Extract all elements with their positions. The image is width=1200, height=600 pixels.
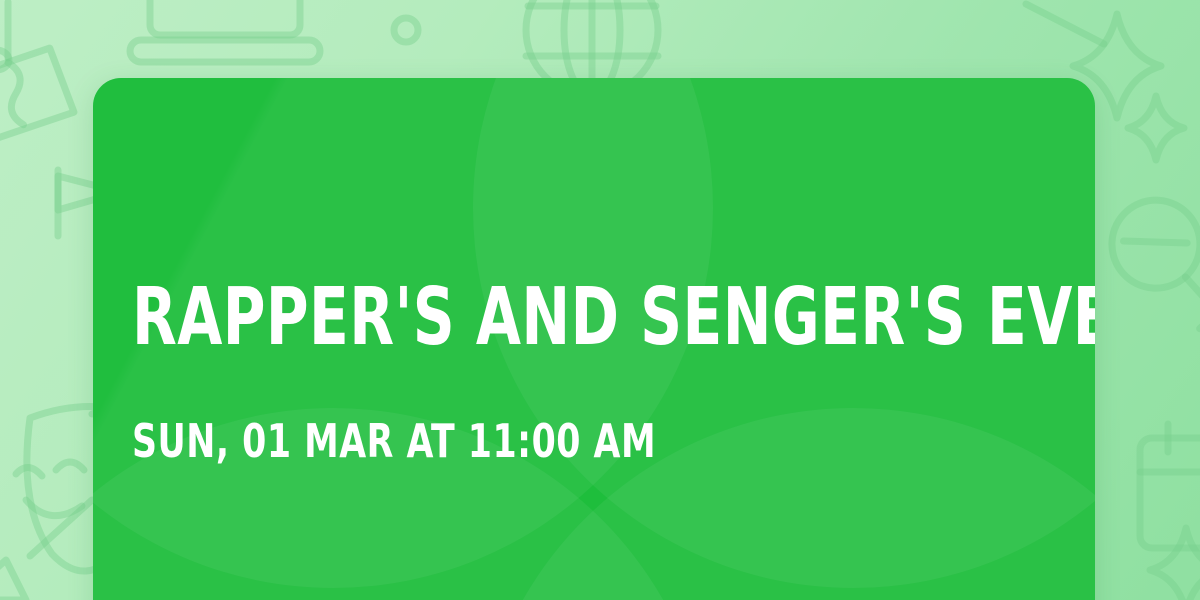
line-accent-icon: [30, 500, 92, 556]
ticket-icon: [0, 46, 76, 153]
event-banner: RAPPER'S AND SENGER'S EVENT SUN, 01 MAR …: [0, 0, 1200, 600]
sparkle-icon: [1128, 96, 1184, 160]
line-accent-icon: [1026, 4, 1104, 44]
microphone-icon: [1094, 182, 1200, 342]
music-note-icon: [0, 2, 9, 70]
sparkle-icon: [1150, 528, 1200, 600]
event-title: RAPPER'S AND SENGER'S EVENT: [132, 274, 1095, 360]
event-card[interactable]: RAPPER'S AND SENGER'S EVENT SUN, 01 MAR …: [93, 78, 1095, 600]
event-datetime: SUN, 01 MAR AT 11:00 AM: [132, 414, 656, 468]
popcorn-icon: [0, 560, 26, 600]
card-content: RAPPER'S AND SENGER'S EVENT SUN, 01 MAR …: [132, 78, 1095, 600]
calendar-icon: [1140, 424, 1200, 548]
laptop-icon: [130, 0, 320, 62]
circle-dot-icon: [394, 18, 418, 42]
